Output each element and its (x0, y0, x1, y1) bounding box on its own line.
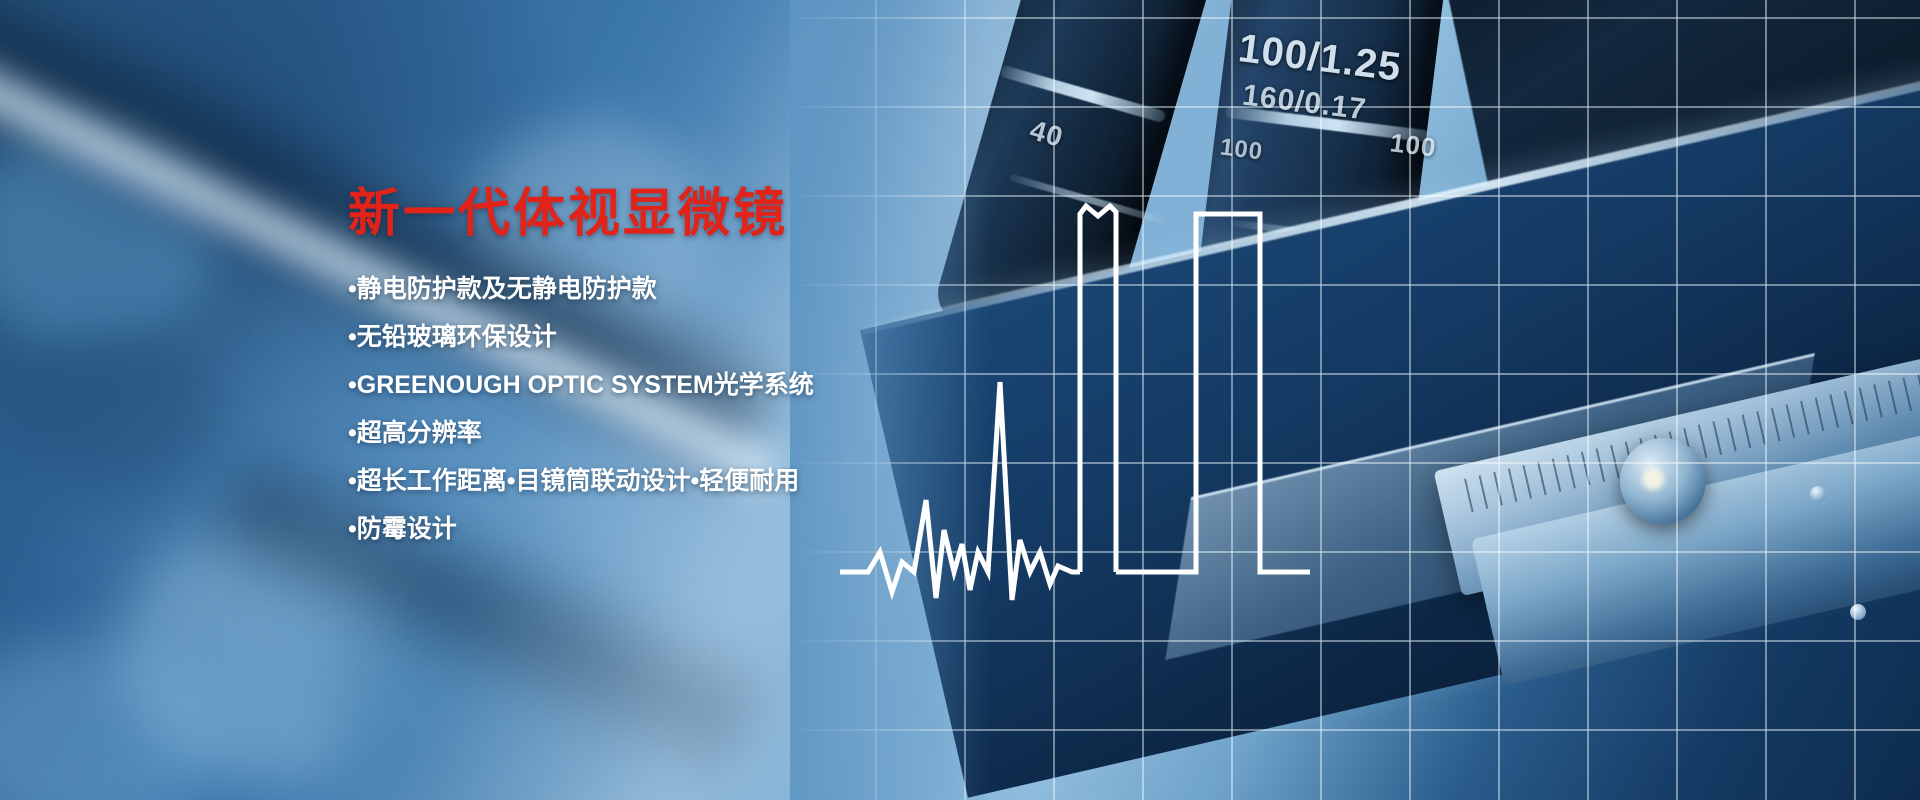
list-item: •超高分辨率 (348, 421, 968, 446)
page-title: 新一代体视显微镜 (348, 186, 968, 243)
list-item: •防霉设计 (348, 517, 968, 542)
list-item: •GREENOUGH OPTIC SYSTEM光学系统 (348, 373, 968, 398)
hero-text-block: 新一代体视显微镜 •静电防护款及无静电防护款 •无铅玻璃环保设计 •GREENO… (348, 186, 968, 565)
list-item: •超长工作距离•目镜筒联动设计•轻便耐用 (348, 469, 968, 494)
list-item: •无铅玻璃环保设计 (348, 325, 968, 350)
feature-list: •静电防护款及无静电防护款 •无铅玻璃环保设计 •GREENOUGH OPTIC… (348, 277, 968, 542)
bokeh-blob (20, 330, 220, 500)
list-item: •静电防护款及无静电防护款 (348, 277, 968, 302)
hero-banner: 100/1.25 160/0.17 40 100 100 新一代体视显微镜 •静… (0, 0, 1920, 800)
